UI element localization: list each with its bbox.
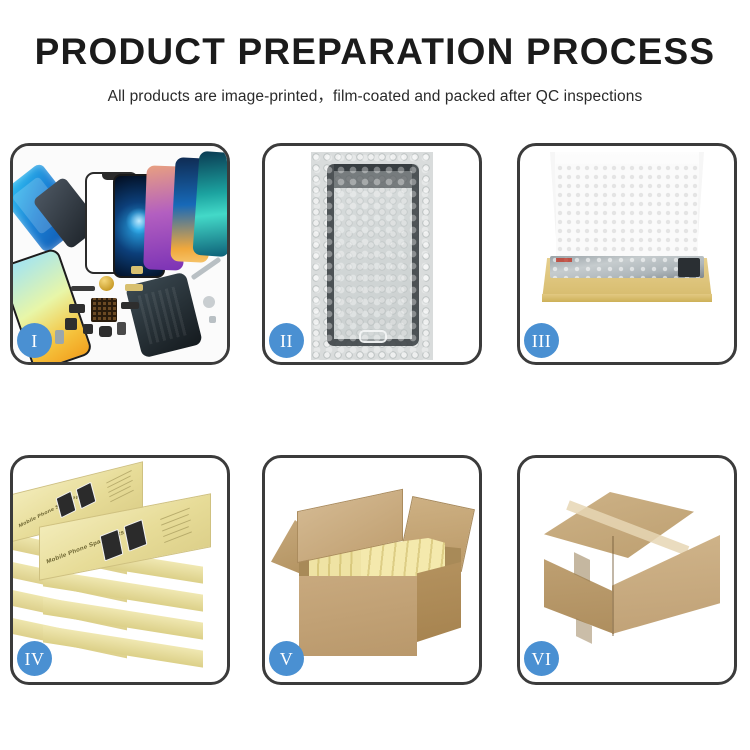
gold-component [99, 276, 114, 291]
box-art-phone-b2 [76, 482, 97, 510]
carton-front-face [299, 576, 417, 656]
small-part-6 [121, 302, 139, 309]
page-title: PRODUCT PREPARATION PROCESS [0, 30, 750, 74]
box-text-line-b5 [110, 490, 134, 503]
step-badge-2: II [269, 323, 304, 358]
box-art-phone-b1 [56, 491, 77, 519]
box-front-lip [542, 294, 712, 302]
gold-flex-part [125, 284, 143, 291]
page-header: PRODUCT PREPARATION PROCESS All products… [0, 30, 750, 106]
small-part-10 [209, 316, 216, 323]
small-part-5 [117, 322, 126, 335]
box-art-phone-f2 [124, 519, 148, 552]
step-badge-6: VI [524, 641, 559, 676]
process-step-panel-2: II [262, 143, 482, 365]
process-step-panel-4: Mobile Phone Spare Parts Mobile Phone Sp… [10, 455, 230, 685]
carton-side-face [417, 562, 461, 642]
small-part-7 [55, 330, 64, 344]
step-badge-1: I [17, 323, 52, 358]
product-preparation-page: PRODUCT PREPARATION PROCESS All products… [0, 0, 750, 750]
screen-glass-panel [327, 164, 419, 346]
ic-chip-part [91, 298, 117, 322]
process-step-panel-5: V [262, 455, 482, 685]
small-part-2 [65, 318, 77, 330]
foam-liner [556, 164, 698, 262]
process-step-grid: I II III [10, 143, 742, 688]
page-subtitle: All products are image-printed，film-coat… [0, 84, 750, 106]
connector-end [678, 258, 700, 277]
step-badge-5: V [269, 641, 304, 676]
red-label-mark [556, 258, 572, 262]
small-part-4 [99, 326, 112, 337]
flex-cable-part [71, 286, 95, 291]
small-part-1 [69, 304, 85, 313]
process-step-panel-3: III [517, 143, 737, 365]
small-part-8 [131, 266, 143, 274]
small-part-3 [83, 324, 93, 334]
small-part-9 [203, 296, 215, 308]
step-badge-4: IV [17, 641, 52, 676]
process-step-panel-6: VI [517, 455, 737, 685]
process-step-panel-1: I [10, 143, 230, 365]
teal-swirl-phone [192, 151, 227, 257]
step-badge-3: III [524, 323, 559, 358]
carton-corner-seam [612, 536, 614, 636]
